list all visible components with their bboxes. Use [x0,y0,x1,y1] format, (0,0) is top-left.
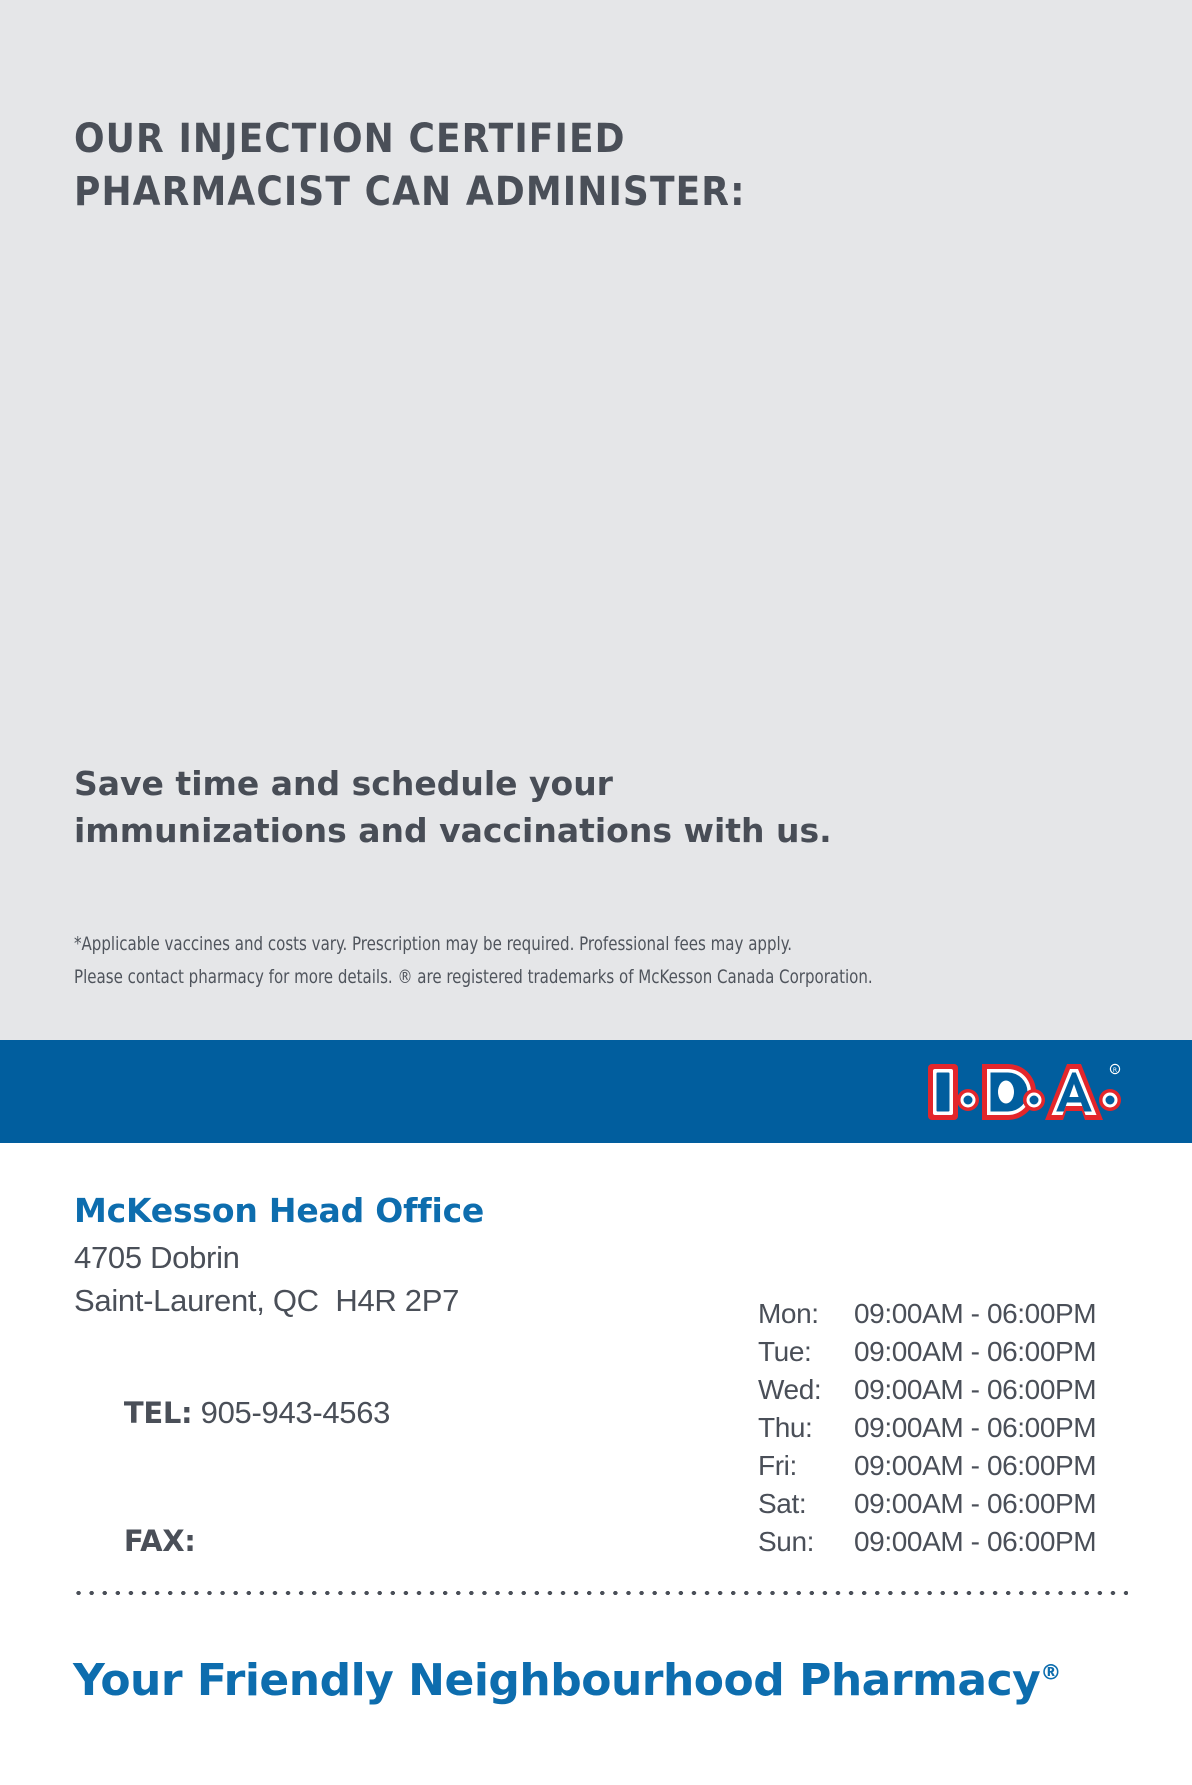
hours-table: Mon: 09:00AM - 06:00PM Tue: 09:00AM - 06… [758,1295,1138,1562]
promo-line-2: immunizations and vaccinations with us. [74,807,974,854]
fax-row: FAX: [74,1477,714,1605]
svg-text:R: R [1113,1067,1117,1074]
telephone-row: TEL: 905-943-4563 [74,1349,714,1477]
contact-block: McKesson Head Office 4705 Dobrin Saint-L… [74,1190,714,1605]
hours-day-label: Mon: [758,1295,854,1333]
hours-row-tue: Tue: 09:00AM - 06:00PM [758,1333,1138,1371]
ida-logo-icon: R [924,1054,1124,1130]
telephone-value: 905-943-4563 [192,1395,390,1430]
telephone-label: TEL: [124,1396,192,1430]
disclaimer-text: *Applicable vaccines and costs vary. Pre… [74,928,1007,993]
address-line-1: 4705 Dobrin [74,1237,714,1280]
promo-line-1: Save time and schedule your [74,760,974,807]
brand-band: R [0,1040,1192,1143]
hours-row-fri: Fri: 09:00AM - 06:00PM [758,1447,1138,1485]
dotted-divider [72,1590,1128,1596]
registered-trademark-icon: ® [1040,1660,1061,1684]
hours-row-wed: Wed: 09:00AM - 06:00PM [758,1371,1138,1409]
headline-line-2: PHARMACIST CAN ADMINISTER: [74,166,1034,219]
tagline-text: Your Friendly Neighbourhood Pharmacy [73,1655,1040,1706]
fax-label: FAX: [124,1524,196,1558]
hours-day-label: Sun: [758,1523,854,1561]
promo-message: Save time and schedule your immunization… [74,760,974,854]
top-grey-panel: OUR INJECTION CERTIFIED PHARMACIST CAN A… [0,0,1192,1040]
hours-row-sat: Sat: 09:00AM - 06:00PM [758,1485,1138,1523]
hours-day-label: Thu: [758,1409,854,1447]
store-name: McKesson Head Office [74,1190,714,1231]
headline-line-1: OUR INJECTION CERTIFIED [74,113,1034,166]
hours-row-mon: Mon: 09:00AM - 06:00PM [758,1295,1138,1333]
hours-row-thu: Thu: 09:00AM - 06:00PM [758,1409,1138,1447]
disclaimer-line-1: *Applicable vaccines and costs vary. Pre… [74,928,1007,961]
hours-time-value: 09:00AM - 06:00PM [854,1485,1138,1523]
hours-day-label: Tue: [758,1333,854,1371]
hours-time-value: 09:00AM - 06:00PM [854,1333,1138,1371]
hours-day-label: Fri: [758,1447,854,1485]
hours-row-sun: Sun: 09:00AM - 06:00PM [758,1523,1138,1561]
phone-block: TEL: 905-943-4563 FAX: [74,1349,714,1606]
hours-time-value: 09:00AM - 06:00PM [854,1295,1138,1333]
hours-time-value: 09:00AM - 06:00PM [854,1523,1138,1561]
hours-time-value: 09:00AM - 06:00PM [854,1447,1138,1485]
tagline: Your Friendly Neighbourhood Pharmacy® [73,1655,1153,1708]
page-title: OUR INJECTION CERTIFIED PHARMACIST CAN A… [74,113,1034,219]
address-line-2: Saint-Laurent, QC H4R 2P7 [74,1280,714,1323]
hours-time-value: 09:00AM - 06:00PM [854,1409,1138,1447]
hours-day-label: Wed: [758,1371,854,1409]
disclaimer-line-2: Please contact pharmacy for more details… [74,961,1007,994]
hours-day-label: Sat: [758,1485,854,1523]
ida-logo: R [924,1054,1124,1130]
hours-time-value: 09:00AM - 06:00PM [854,1371,1138,1409]
